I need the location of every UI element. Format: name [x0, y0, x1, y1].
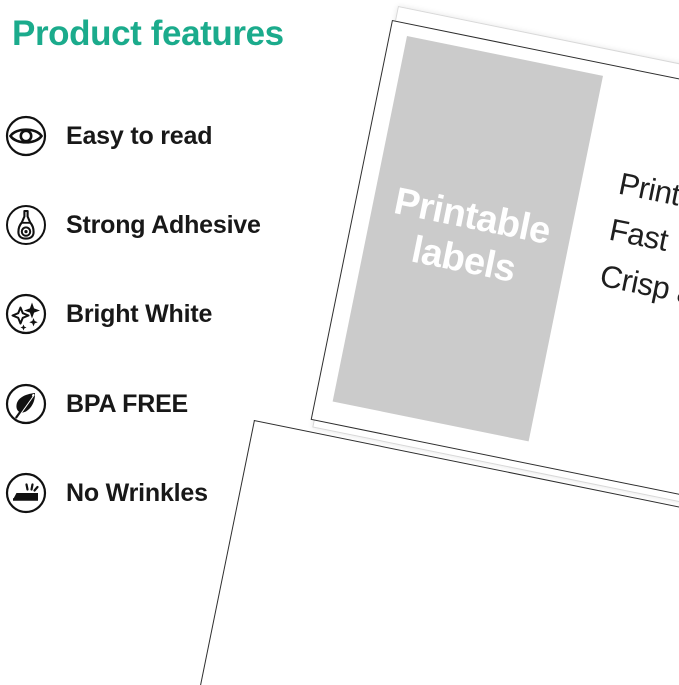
feature-label-strong-adhesive: Strong Adhesive: [66, 211, 261, 240]
printable-label-text: Printable labels: [376, 179, 560, 299]
sparkles-icon: [4, 292, 48, 336]
feature-item-bright-white: Bright White: [4, 291, 212, 337]
glue-bottle-icon: [4, 203, 48, 247]
feature-item-bpa-free: BPA FREE: [4, 381, 188, 427]
feature-item-no-wrinkles: No Wrinkles: [4, 470, 208, 516]
leaf-icon: [4, 382, 48, 426]
iron-stack-icon: [4, 471, 48, 515]
feature-label-bright-white: Bright White: [66, 300, 212, 329]
page-title: Product features: [12, 14, 284, 54]
product-features-graphic: Printable labels Printabl Fast Crisp and…: [0, 0, 679, 685]
feature-label-bpa-free: BPA FREE: [66, 390, 188, 419]
feature-label-no-wrinkles: No Wrinkles: [66, 479, 208, 508]
feature-label-easy-to-read: Easy to read: [66, 122, 212, 151]
eye-icon: [4, 114, 48, 158]
features-panel: Product features Easy to read Strong Adh…: [0, 0, 340, 685]
feature-item-strong-adhesive: Strong Adhesive: [4, 202, 261, 248]
feature-item-easy-to-read: Easy to read: [4, 113, 212, 159]
